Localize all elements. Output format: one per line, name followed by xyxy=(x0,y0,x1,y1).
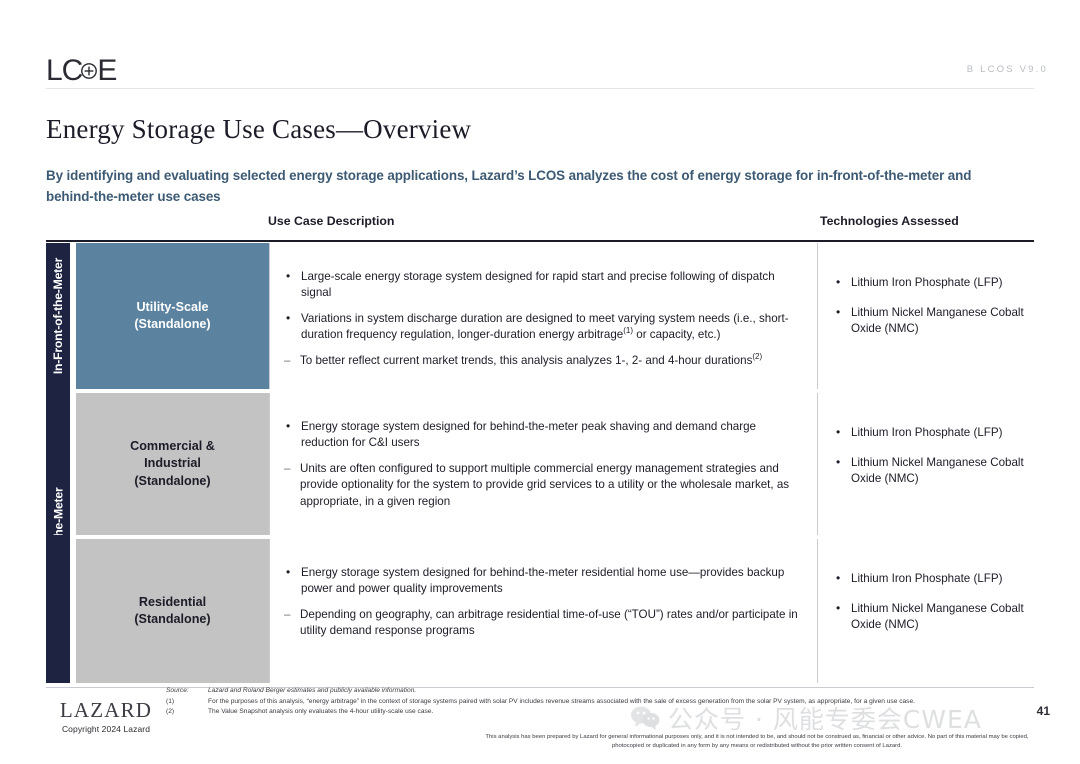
footnotes: Source: Lazard and Roland Berger estimat… xyxy=(166,686,1046,718)
copyright-text: Copyright 2024 Lazard xyxy=(46,724,166,734)
bullet-item: Energy storage system designed for behin… xyxy=(284,419,803,452)
slide: LC E B LCOS V9.0 Energy Storage Use Case… xyxy=(0,0,1080,764)
use-case-cell-utility-scale: Utility-Scale (Standalone) xyxy=(76,243,269,389)
description-cell: Energy storage system designed for behin… xyxy=(269,539,817,683)
footnote-2: (2) The Value Snapshot analysis only eva… xyxy=(166,707,1046,717)
footnote-1-label: (1) xyxy=(166,697,208,707)
column-header-technologies-assessed: Technologies Assessed xyxy=(820,214,959,228)
header-divider xyxy=(46,88,1034,89)
use-case-title-line2: (Standalone) xyxy=(134,612,210,626)
header-deck-label: B LCOS V9.0 xyxy=(967,64,1048,75)
sub-bullet-item: To better reflect current market trends,… xyxy=(284,353,803,369)
segment-continuation-behind-the-meter xyxy=(46,539,70,683)
header-underline xyxy=(46,240,1034,242)
bullet-item: Large-scale energy storage system design… xyxy=(284,269,803,302)
column-header-use-case-description: Use Case Description xyxy=(268,214,394,228)
use-case-title-line2: Industrial xyxy=(144,456,201,470)
use-case-table: Use Case Description Technologies Assess… xyxy=(46,214,1034,240)
use-case-cell-residential: Residential (Standalone) xyxy=(76,539,269,683)
table-body: In-Front-of-the-Meter Utility-Scale (Sta… xyxy=(46,243,1034,683)
bullet-text-tail: or capacity, etc.) xyxy=(633,328,720,341)
use-case-title-line1: Utility-Scale xyxy=(136,300,208,314)
circle-plus-icon xyxy=(78,60,100,82)
sub-bullet-item: Units are often configured to support mu… xyxy=(284,461,803,510)
technology-item: Lithium Nickel Manganese Cobalt Oxide (N… xyxy=(834,305,1026,337)
technologies-cell: Lithium Iron Phosphate (LFP) Lithium Nic… xyxy=(817,243,1034,389)
technology-item: Lithium Nickel Manganese Cobalt Oxide (N… xyxy=(834,601,1026,633)
footnote-1: (1) For the purposes of this analysis, “… xyxy=(166,697,1046,707)
lazard-brand: LAZARD xyxy=(46,700,166,721)
lcoe-logo: LC E xyxy=(46,56,116,86)
disclaimer-text: This analysis has been prepared by Lazar… xyxy=(478,733,1036,751)
technology-item: Lithium Iron Phosphate (LFP) xyxy=(834,425,1026,441)
page-title: Energy Storage Use Cases—Overview xyxy=(46,114,471,145)
footnote-ref: (1) xyxy=(623,327,633,336)
lazard-logo: LAZARD Copyright 2024 Lazard xyxy=(46,700,166,734)
footnote-ref: (2) xyxy=(752,352,762,361)
segment-label-in-front-of-the-meter: In-Front-of-the-Meter xyxy=(46,243,70,389)
footnote-1-text: For the purposes of this analysis, “ener… xyxy=(208,697,915,707)
description-cell: Energy storage system designed for behin… xyxy=(269,393,817,535)
table-column-headers: Use Case Description Technologies Assess… xyxy=(46,214,1034,240)
table-row: Residential (Standalone) Energy storage … xyxy=(46,539,1034,683)
logo-text-left: LC xyxy=(46,56,82,86)
source-text: Lazard and Roland Berger estimates and p… xyxy=(208,686,416,696)
technology-item: Lithium Nickel Manganese Cobalt Oxide (N… xyxy=(834,455,1026,487)
table-row: In-Front-of-the-Meter Utility-Scale (Sta… xyxy=(46,243,1034,389)
technologies-cell: Lithium Iron Phosphate (LFP) Lithium Nic… xyxy=(817,539,1034,683)
sub-bullet-text: To better reflect current market trends,… xyxy=(300,354,752,367)
segment-label-text: In-Front-of-the-Meter xyxy=(51,258,65,374)
source-row: Source: Lazard and Roland Berger estimat… xyxy=(166,686,1046,696)
use-case-title-line1: Residential xyxy=(139,595,206,609)
technologies-cell: Lithium Iron Phosphate (LFP) Lithium Nic… xyxy=(817,393,1034,535)
technology-item: Lithium Iron Phosphate (LFP) xyxy=(834,275,1026,291)
use-case-cell-commercial-industrial: Commercial & Industrial (Standalone) xyxy=(76,393,269,535)
table-row: Behind-the-Meter Commercial & Industrial… xyxy=(46,393,1034,535)
use-case-title-line3: (Standalone) xyxy=(134,474,210,488)
use-case-title-line1: Commercial & xyxy=(130,439,215,453)
sub-bullet-item: Depending on geography, can arbitrage re… xyxy=(284,607,803,640)
page-number: 41 xyxy=(1037,704,1050,718)
bullet-item: Energy storage system designed for behin… xyxy=(284,565,803,598)
segment-label-behind-the-meter: Behind-the-Meter xyxy=(46,393,70,535)
page-header: LC E B LCOS V9.0 xyxy=(0,0,1080,92)
footnote-2-label: (2) xyxy=(166,707,208,717)
page-subtitle: By identifying and evaluating selected e… xyxy=(46,166,1011,208)
bullet-item: Variations in system discharge duration … xyxy=(284,311,803,344)
source-label: Source: xyxy=(166,686,208,696)
technology-item: Lithium Iron Phosphate (LFP) xyxy=(834,571,1026,587)
description-cell: Large-scale energy storage system design… xyxy=(269,243,817,389)
use-case-title-line2: (Standalone) xyxy=(134,317,210,331)
footnote-2-text: The Value Snapshot analysis only evaluat… xyxy=(208,707,433,717)
